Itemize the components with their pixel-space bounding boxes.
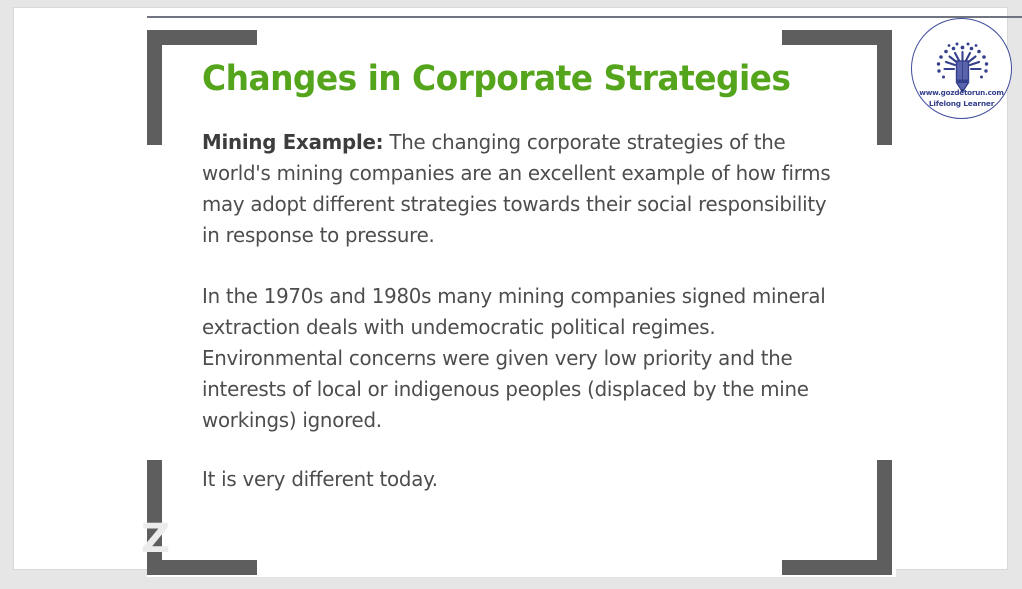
brand-logo: www.gozdetorun.com Lifelong Learner: [911, 18, 1012, 119]
logo-website-url: www.gozdetorun.com: [912, 88, 1011, 97]
logo-tagline: Lifelong Learner: [912, 99, 1011, 108]
slide-content-area: Z Changes in Corporate Strategies Mining…: [147, 18, 896, 577]
bracket-arm-horizontal: [147, 560, 257, 575]
slide-viewer: Z Changes in Corporate Strategies Mining…: [0, 0, 1022, 589]
bracket-arm-horizontal: [782, 30, 892, 45]
paragraph-closing-statement: It is very different today.: [202, 464, 839, 495]
paragraph-historical-context: In the 1970s and 1980s many mining compa…: [202, 281, 839, 436]
slide-title: Changes in Corporate Strategies: [202, 60, 822, 99]
bracket-arm-vertical: [877, 30, 892, 145]
slide-text-block: Changes in Corporate Strategies Mining E…: [202, 60, 862, 495]
paragraph-body-text: In the 1970s and 1980s many mining compa…: [202, 284, 826, 432]
corner-watermark-glyph: Z: [141, 516, 199, 562]
bracket-arm-horizontal: [782, 560, 892, 575]
paragraph-lead-label: Mining Example:: [202, 130, 383, 154]
paragraph-mining-example: Mining Example: The changing corporate s…: [202, 127, 839, 251]
bracket-arm-vertical: [147, 30, 162, 145]
bracket-arm-horizontal: [147, 30, 257, 45]
paragraph-body-text: It is very different today.: [202, 467, 438, 491]
bracket-arm-vertical: [877, 460, 892, 575]
slide-canvas: Z Changes in Corporate Strategies Mining…: [14, 8, 1007, 569]
